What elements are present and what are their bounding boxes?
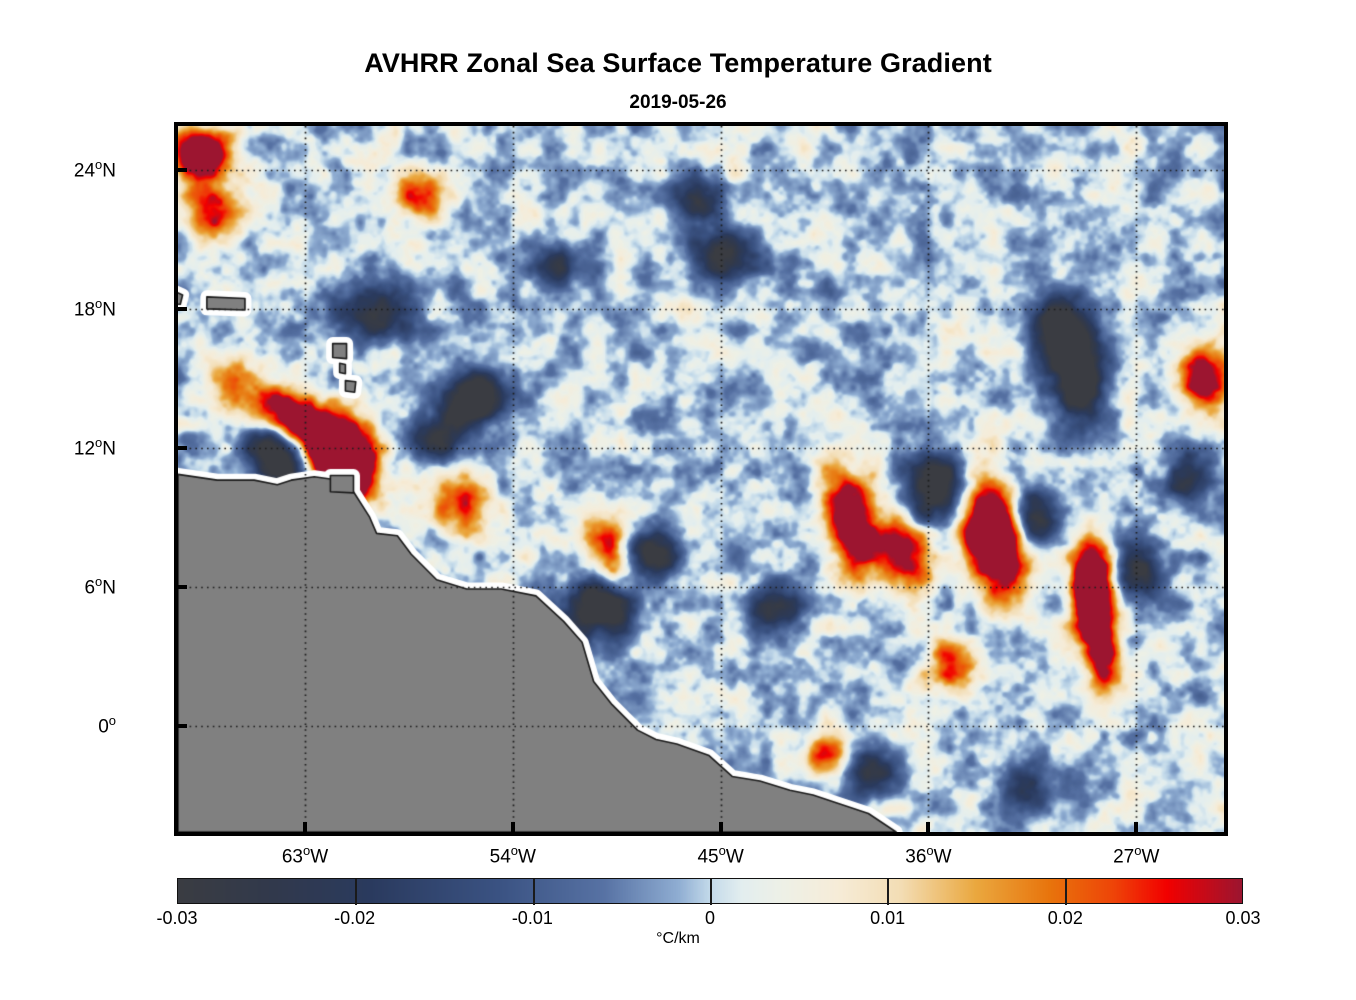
x-tick-label-54w: 54oW [433, 843, 593, 868]
colorbar-tick-2 [533, 879, 535, 905]
colorbar-tick-5 [1065, 879, 1067, 905]
y-tick-label-24: 24oN [0, 157, 116, 182]
colorbar-tick-3 [710, 879, 712, 905]
y-tick-mark-6 [174, 585, 187, 589]
y-tick-mark-24 [174, 168, 187, 172]
colorbar-label-3: 0 [630, 908, 790, 929]
colorbar-label-2: -0.01 [452, 908, 612, 929]
y-tick-mark-0 [174, 724, 187, 728]
y-tick-label-6: 6oN [0, 574, 116, 599]
colorbar[interactable] [177, 878, 1243, 904]
x-tick-mark-36w [926, 822, 930, 836]
y-tick-label-12: 12oN [0, 435, 116, 460]
colorbar-label-6: 0.03 [1163, 908, 1323, 929]
y-tick-mark-12 [174, 446, 187, 450]
colorbar-label-5: 0.02 [985, 908, 1145, 929]
y-tick-label-0: 0o [0, 713, 116, 738]
colorbar-label-1: -0.02 [275, 908, 435, 929]
colorbar-label-4: 0.01 [808, 908, 968, 929]
colorbar-tick-4 [887, 879, 889, 905]
x-tick-mark-27w [1134, 822, 1138, 836]
colorbar-unit-label: °C/km [0, 930, 1356, 948]
x-tick-label-63w: 63oW [225, 843, 385, 868]
x-tick-label-45w: 45oW [641, 843, 801, 868]
map-canvas-wrapper [178, 126, 1224, 832]
figure-root: AVHRR Zonal Sea Surface Temperature Grad… [0, 0, 1356, 1000]
x-tick-label-27w: 27oW [1056, 843, 1216, 868]
x-tick-label-36w: 36oW [848, 843, 1008, 868]
y-tick-mark-18 [174, 307, 187, 311]
map-plot-area[interactable] [174, 122, 1228, 836]
page-title: AVHRR Zonal Sea Surface Temperature Grad… [0, 48, 1356, 79]
y-tick-label-18: 18oN [0, 296, 116, 321]
x-tick-mark-54w [511, 822, 515, 836]
figure-subtitle: 2019-05-26 [0, 92, 1356, 114]
x-tick-mark-45w [719, 822, 723, 836]
colorbar-tick-1 [355, 879, 357, 905]
sst-gradient-heatmap [178, 126, 1224, 832]
x-tick-mark-63w [303, 822, 307, 836]
colorbar-label-0: -0.03 [97, 908, 257, 929]
